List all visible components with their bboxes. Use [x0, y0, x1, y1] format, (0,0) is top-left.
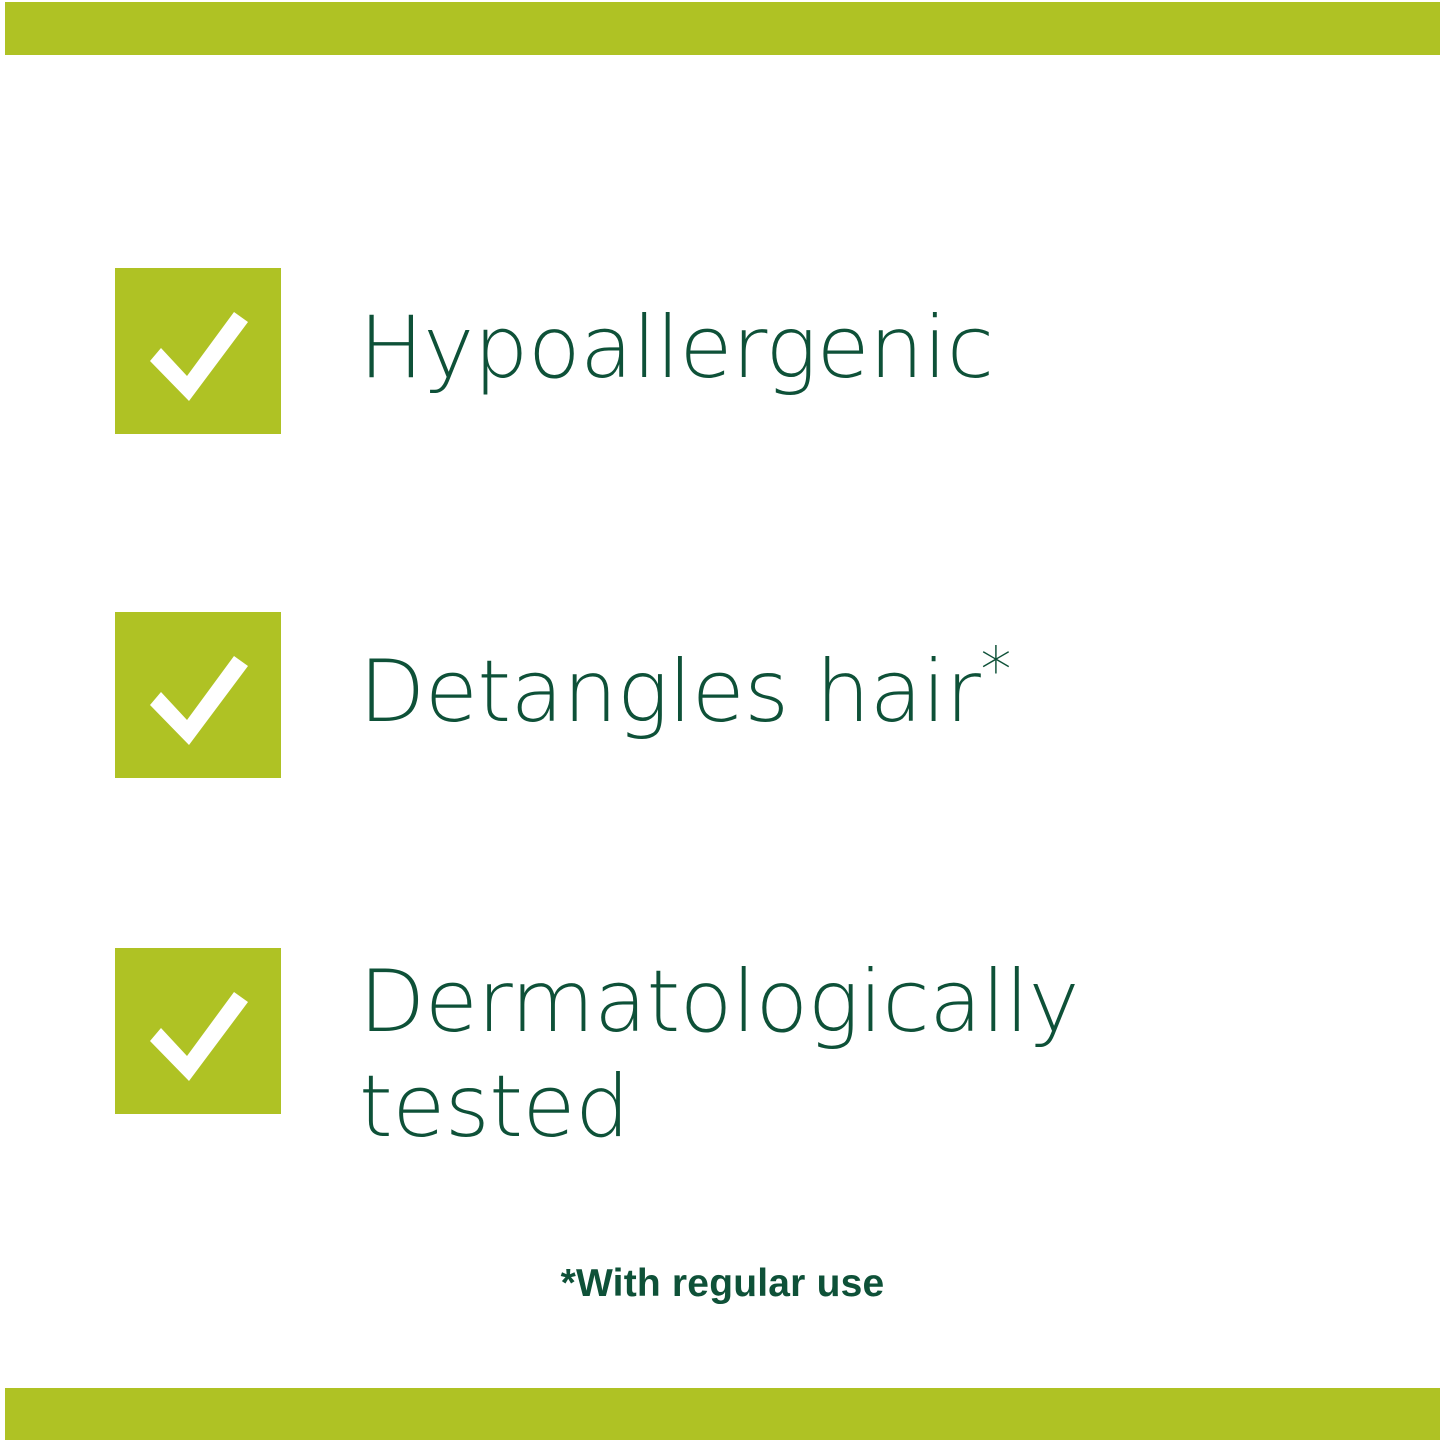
- feature-item-dermatologically-tested: Dermatologically tested: [115, 948, 1079, 1160]
- footnote-text: *With regular use: [0, 1262, 1445, 1306]
- product-feature-panel: Hypoallergenic Detangles hair* Dermatolo…: [0, 0, 1445, 1445]
- feature-label-dermatologically-tested: Dermatologically tested: [359, 948, 1079, 1160]
- feature-label-detangles-hair: Detangles hair*: [359, 612, 1011, 745]
- feature-item-detangles-hair: Detangles hair*: [115, 612, 1011, 778]
- checkmark-icon: [115, 612, 281, 778]
- bottom-accent-band: [5, 1388, 1440, 1440]
- checkmark-icon: [115, 948, 281, 1114]
- feature-label-hypoallergenic: Hypoallergenic: [359, 268, 994, 401]
- footnote-marker-asterisk: *: [980, 633, 1011, 706]
- feature-label-detangles-hair-text: Detangles hair: [359, 642, 980, 742]
- checkmark-icon: [115, 268, 281, 434]
- top-accent-band: [5, 2, 1440, 55]
- feature-item-hypoallergenic: Hypoallergenic: [115, 268, 994, 434]
